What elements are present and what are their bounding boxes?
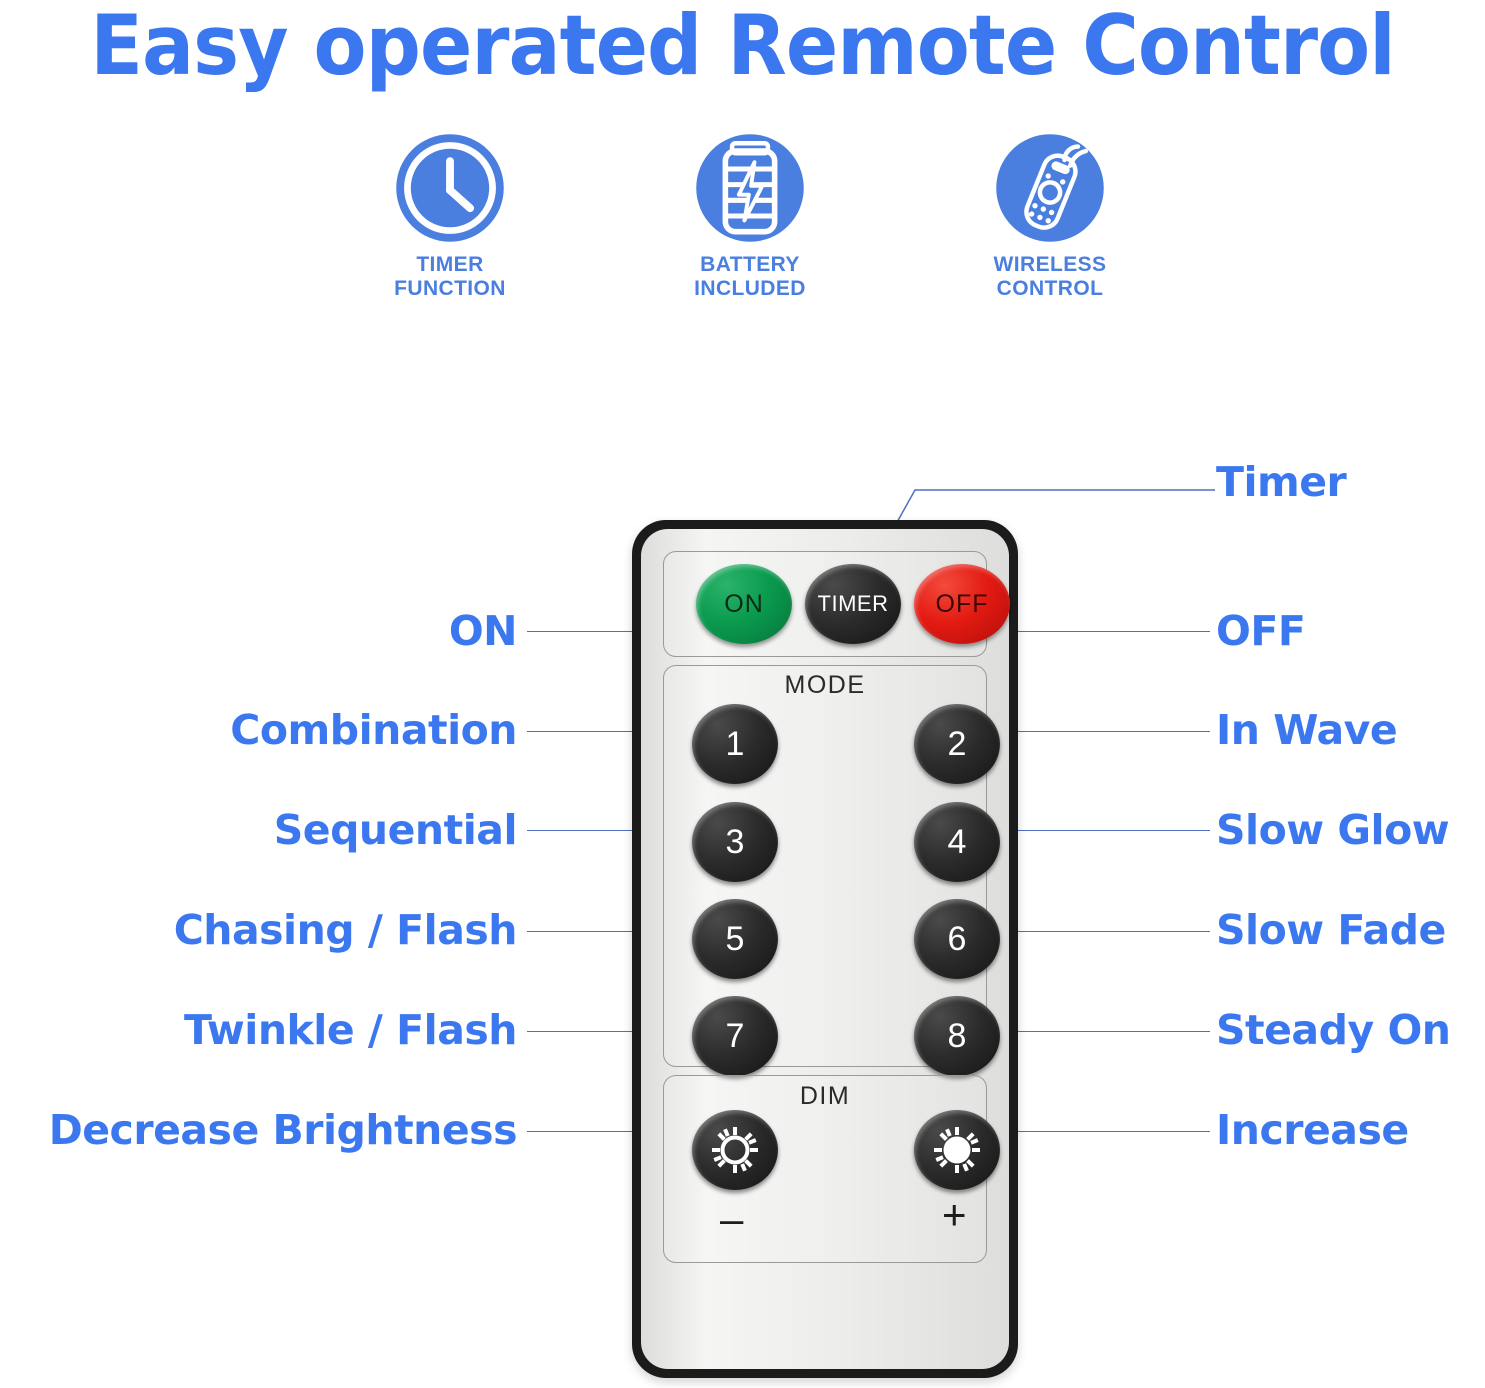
mode-button-5[interactable]: 5 — [692, 899, 778, 979]
mode-button-6[interactable]: 6 — [914, 899, 1000, 979]
callout-slow-fade: Slow Fade — [1216, 907, 1446, 953]
on-button-label: ON — [724, 590, 764, 619]
dim-panel: DIM — [663, 1075, 987, 1263]
mode-panel-title: MODE — [664, 671, 986, 700]
callout-off: OFF — [1216, 608, 1305, 654]
callout-decrease-brightness: Decrease Brightness — [49, 1107, 517, 1153]
mode-button-2[interactable]: 2 — [914, 704, 1000, 784]
power-panel: ON TIMER OFF — [663, 551, 987, 657]
callout-steady-on: Steady On — [1216, 1007, 1451, 1053]
feature-battery-caption: BATTERY INCLUDED — [694, 253, 806, 301]
battery-icon — [694, 132, 806, 244]
dim-decrease-button[interactable] — [692, 1110, 778, 1190]
feature-wireless-line2: CONTROL — [994, 277, 1107, 301]
off-button[interactable]: OFF — [914, 564, 1010, 644]
feature-timer: TIMER FUNCTION — [300, 132, 600, 301]
feature-battery: BATTERY INCLUDED — [600, 132, 900, 301]
feature-wireless-line1: WIRELESS — [994, 253, 1107, 277]
mode-button-2-label: 2 — [948, 725, 967, 764]
brightness-high-icon — [931, 1124, 983, 1176]
brightness-low-icon — [709, 1124, 761, 1176]
callout-in-wave: In Wave — [1216, 707, 1397, 753]
callout-combination: Combination — [230, 707, 517, 753]
infographic-page: Easy operated Remote Control TIMER FUNCT… — [0, 0, 1485, 1388]
mode-panel: MODE 1 2 3 4 5 6 — [663, 665, 987, 1067]
on-button[interactable]: ON — [696, 564, 792, 644]
mode-button-8[interactable]: 8 — [914, 996, 1000, 1076]
timer-button[interactable]: TIMER — [805, 564, 901, 644]
page-title: Easy operated Remote Control — [52, 2, 1433, 90]
mode-button-3-label: 3 — [726, 823, 745, 862]
feature-timer-line2: FUNCTION — [394, 277, 506, 301]
feature-battery-line2: INCLUDED — [694, 277, 806, 301]
dim-panel-title: DIM — [664, 1082, 986, 1111]
callout-slow-glow: Slow Glow — [1216, 807, 1449, 853]
remote-control-device: ON TIMER OFF MODE 1 2 3 — [632, 520, 1018, 1378]
clock-icon — [394, 132, 506, 244]
feature-battery-line1: BATTERY — [694, 253, 806, 277]
callout-timer: Timer — [1216, 459, 1346, 505]
callout-on: ON — [449, 608, 517, 654]
callout-twinkle-flash: Twinkle / Flash — [184, 1007, 517, 1053]
dim-increase-button[interactable] — [914, 1110, 1000, 1190]
mode-button-8-label: 8 — [948, 1017, 967, 1056]
callout-increase: Increase — [1216, 1107, 1409, 1153]
off-button-label: OFF — [936, 590, 989, 619]
feature-timer-caption: TIMER FUNCTION — [394, 253, 506, 301]
mode-button-3[interactable]: 3 — [692, 802, 778, 882]
feature-wireless-caption: WIRELESS CONTROL — [994, 253, 1107, 301]
mode-button-5-label: 5 — [726, 920, 745, 959]
dim-plus-sign: + — [942, 1194, 967, 1236]
feature-wireless: WIRELESS CONTROL — [900, 132, 1200, 301]
mode-button-1-label: 1 — [726, 725, 745, 764]
mode-button-4[interactable]: 4 — [914, 802, 1000, 882]
remote-signal-icon — [994, 132, 1106, 244]
timer-button-label: TIMER — [818, 591, 889, 617]
mode-button-7[interactable]: 7 — [692, 996, 778, 1076]
feature-timer-line1: TIMER — [394, 253, 506, 277]
dim-minus-sign: – — [720, 1198, 743, 1240]
callout-sequential: Sequential — [274, 807, 517, 853]
remote-face: ON TIMER OFF MODE 1 2 3 — [641, 529, 1009, 1369]
feature-row: TIMER FUNCTION BATTERY INCLUDED — [300, 132, 1200, 301]
mode-button-6-label: 6 — [948, 920, 967, 959]
callout-chasing-flash: Chasing / Flash — [174, 907, 517, 953]
mode-button-4-label: 4 — [948, 823, 967, 862]
mode-button-7-label: 7 — [726, 1017, 745, 1056]
mode-button-1[interactable]: 1 — [692, 704, 778, 784]
